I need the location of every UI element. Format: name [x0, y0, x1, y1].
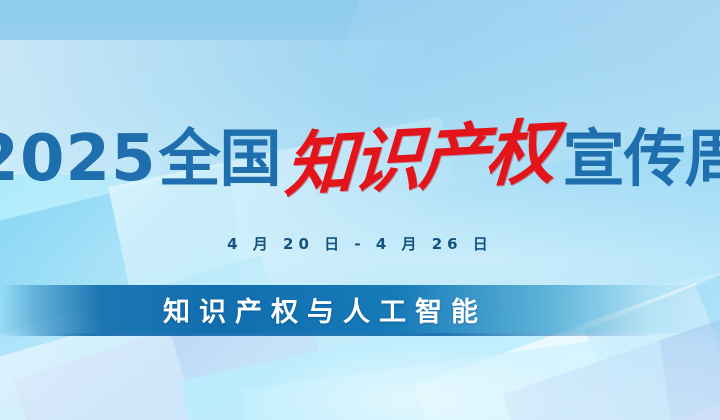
subtitle-bar: 知识产权与人工智能 — [0, 285, 720, 333]
headline-suffix: 宣传周 — [563, 128, 720, 190]
dateline: 4 月 20 日 - 4 月 26 日 — [0, 233, 720, 254]
headline-year: 2025 — [0, 127, 157, 191]
headline-prefix: 全国 — [159, 128, 281, 190]
banner-content: 2025 全国 知识产权 宣传周 4 月 20 日 - 4 月 26 日 知识产… — [0, 0, 720, 420]
subtitle-bar-underline — [0, 333, 720, 336]
headline-emphasis: 知识产权 — [283, 117, 554, 201]
ip-week-banner: 2025 全国 知识产权 宣传周 4 月 20 日 - 4 月 26 日 知识产… — [0, 0, 720, 420]
headline: 2025 全国 知识产权 宣传周 — [0, 124, 720, 194]
subtitle-text: 知识产权与人工智能 — [0, 290, 720, 329]
